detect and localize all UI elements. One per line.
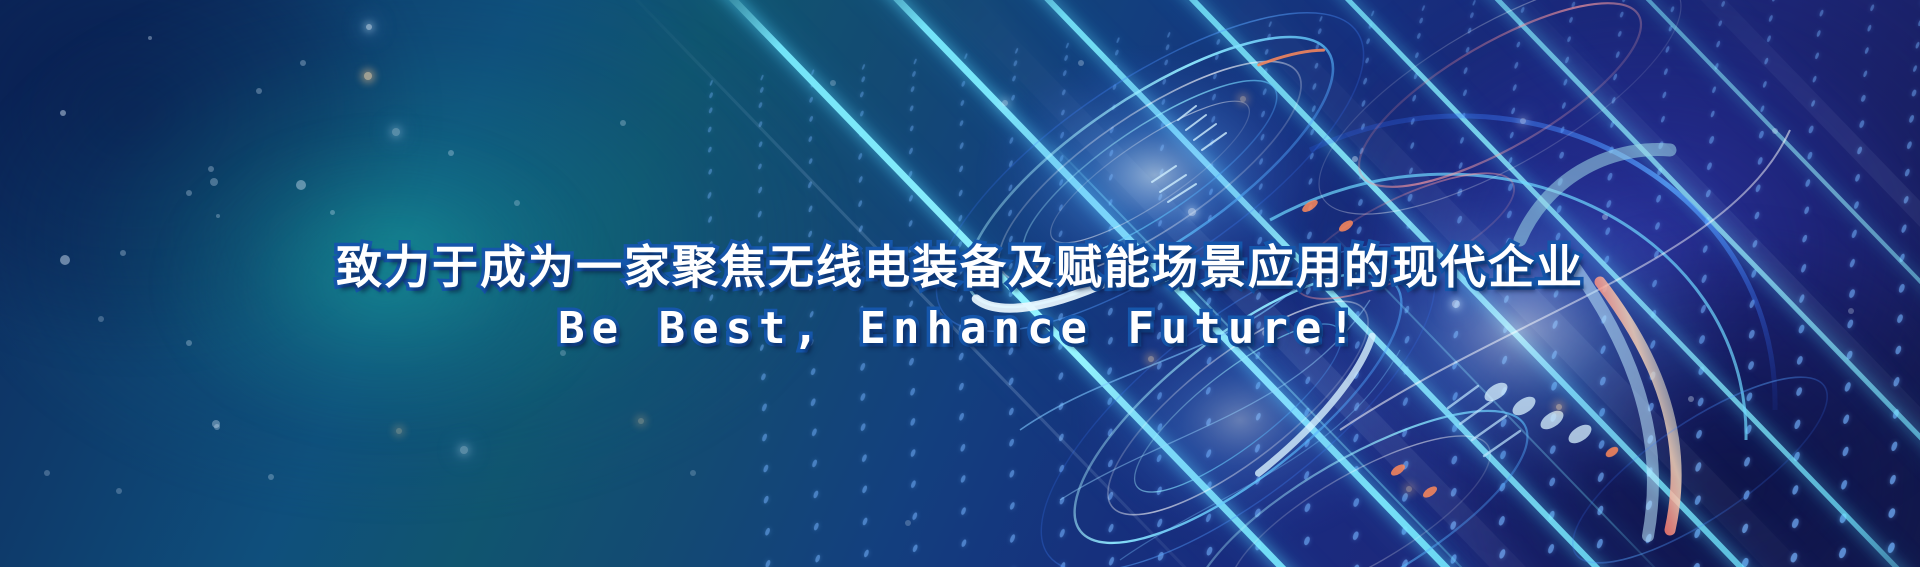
sparkle-star: [620, 120, 626, 126]
sparkle-star: [560, 350, 566, 356]
sparkle-star: [1772, 128, 1778, 134]
sparkle-star: [1452, 300, 1460, 308]
sparkle-star: [116, 488, 122, 494]
sparkle-star: [330, 210, 335, 215]
sparkle-star: [208, 166, 214, 172]
sparkle-star: [44, 470, 50, 476]
sparkle-star: [1688, 396, 1694, 402]
hero-banner: 致力于成为一家聚焦无线电装备及赋能场景应用的现代企业 Be Best, Enha…: [0, 0, 1920, 567]
sparkle-star: [1002, 100, 1008, 106]
light-beam: [695, 0, 1520, 567]
sparkle-star: [460, 446, 468, 454]
sparkle-star: [1262, 330, 1268, 336]
sparkle-star: [364, 72, 372, 80]
sparkle-star: [210, 178, 218, 186]
sparkle-star: [366, 24, 372, 30]
sparkle-star: [60, 255, 70, 265]
sparkle-star: [296, 180, 306, 190]
diagonal-light-beams: [0, 0, 1920, 567]
sparkle-star: [514, 200, 520, 206]
sparkle-star: [60, 110, 66, 116]
sparkle-star: [120, 250, 126, 256]
sparkle-star: [214, 424, 220, 430]
sparkle-star: [690, 470, 696, 476]
sparkle-star: [1406, 486, 1412, 492]
sparkle-star: [752, 250, 758, 256]
sparkle-star: [256, 88, 262, 94]
sparkle-star: [1520, 118, 1526, 124]
sparkle-star: [216, 214, 220, 218]
sparkle-star: [98, 316, 104, 322]
sparkle-star: [148, 36, 152, 40]
sparkle-star: [638, 418, 644, 424]
sparkle-star: [186, 340, 192, 346]
sparkle-star: [1318, 250, 1324, 256]
sparkle-star: [1240, 96, 1246, 102]
sparkle-star: [1602, 214, 1608, 220]
sparkle-star: [1556, 404, 1562, 410]
sparkle-star: [300, 60, 306, 66]
sparkle-star: [830, 80, 836, 86]
sparkle-star: [1352, 156, 1358, 162]
sparkle-star: [1188, 208, 1196, 216]
sparkle-star: [396, 428, 402, 434]
sparkle-star: [905, 520, 911, 526]
sparkle-star: [1078, 60, 1084, 66]
sparkle-star: [1848, 308, 1854, 314]
sparkle-star: [448, 150, 454, 156]
sparkle-star: [186, 190, 192, 196]
sparkle-star: [392, 128, 400, 136]
sparkle-star: [268, 474, 274, 480]
sparkle-star: [1036, 262, 1042, 268]
sparkle-star: [1148, 356, 1154, 362]
